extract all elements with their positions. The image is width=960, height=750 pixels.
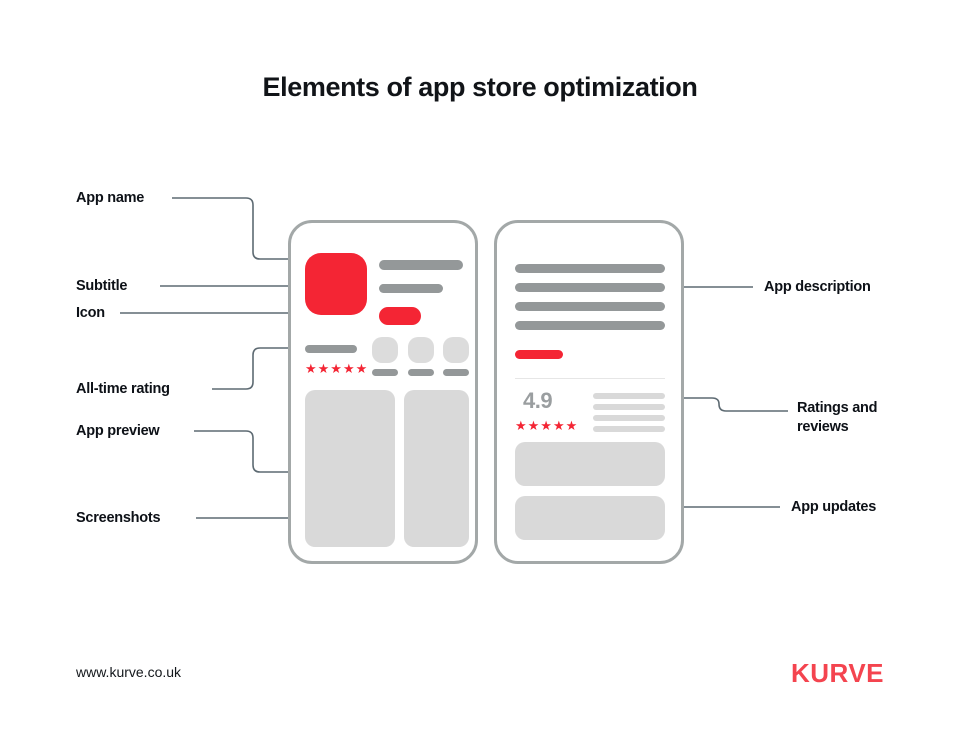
category-tile-caption xyxy=(443,369,469,376)
phone-mockup-details-page: 4.9 ★★★★★ xyxy=(494,220,684,564)
description-line xyxy=(515,302,665,311)
rating-histogram-bar xyxy=(593,393,665,399)
app-update-card[interactable] xyxy=(515,496,665,540)
description-line xyxy=(515,283,665,292)
screenshot-card[interactable] xyxy=(404,390,469,547)
app-preview-card[interactable] xyxy=(305,390,395,547)
average-rating-stars: ★★★★★ xyxy=(515,419,578,432)
category-tile[interactable] xyxy=(408,337,434,363)
callout-label-app-updates[interactable]: App updates xyxy=(791,498,876,517)
subtitle-bar xyxy=(379,284,443,293)
kurve-logo: KURVE xyxy=(791,658,884,689)
callout-label-ratings-and-reviews[interactable]: Ratings and reviews xyxy=(797,399,877,437)
average-rating-score: 4.9 xyxy=(523,390,552,412)
leader-app-preview xyxy=(194,431,299,472)
app-update-card[interactable] xyxy=(515,442,665,486)
category-tile-caption xyxy=(372,369,398,376)
callout-label-app-preview[interactable]: App preview xyxy=(76,422,159,441)
callout-label-screenshots[interactable]: Screenshots xyxy=(76,509,160,528)
section-divider xyxy=(515,378,665,379)
more-link[interactable] xyxy=(515,350,563,359)
leader-lines xyxy=(0,0,960,750)
category-tile[interactable] xyxy=(372,337,398,363)
all-time-rating-stars: ★★★★★ xyxy=(305,362,368,375)
rating-histogram-bar xyxy=(593,426,665,432)
rating-histogram-bar xyxy=(593,415,665,421)
callout-label-all-time-rating[interactable]: All-time rating xyxy=(76,380,170,399)
callout-label-subtitle[interactable]: Subtitle xyxy=(76,277,127,296)
rating-label-bar xyxy=(305,345,357,353)
callout-label-app-name[interactable]: App name xyxy=(76,189,144,208)
description-line xyxy=(515,321,665,330)
category-tile-caption xyxy=(408,369,434,376)
rating-histogram-bar xyxy=(593,404,665,410)
description-line xyxy=(515,264,665,273)
app-icon xyxy=(305,253,367,315)
get-button[interactable] xyxy=(379,307,421,325)
callout-label-app-description[interactable]: App description xyxy=(764,278,871,297)
app-name-bar xyxy=(379,260,463,270)
footer-website[interactable]: www.kurve.co.uk xyxy=(76,664,181,680)
phone-mockup-product-page: ★★★★★ xyxy=(288,220,478,564)
category-tile[interactable] xyxy=(443,337,469,363)
diagram-canvas: Elements of app store optimization xyxy=(0,0,960,750)
callout-label-icon[interactable]: Icon xyxy=(76,304,105,323)
